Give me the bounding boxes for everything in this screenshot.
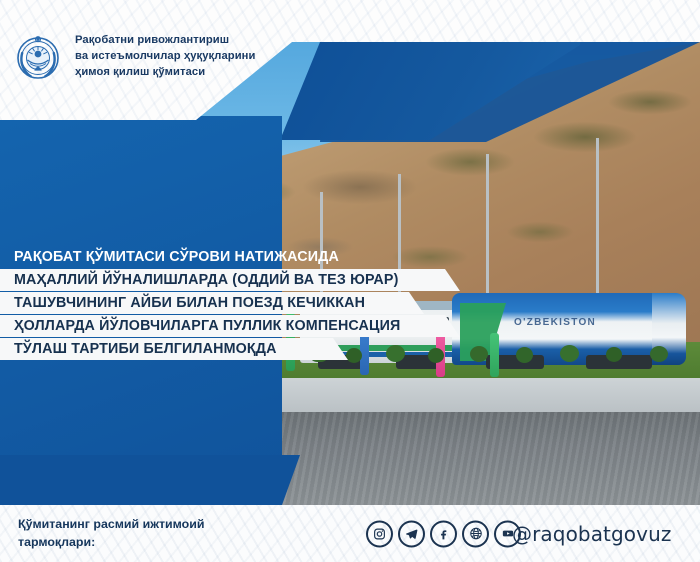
headline-line-1: РАҚОБАТ ҚЎМИТАСИ СЎРОВИ НАТИЖАСИДА [0,246,700,268]
social-media-poster: O'ZBEKISTON [0,0,700,562]
website-globe-icon[interactable] [462,520,489,547]
headline-line-3: ТАШУВЧИНИНГ АЙБИ БИЛАН ПОЕЗД КЕЧИККАН [0,292,700,314]
facebook-icon[interactable] [430,520,457,547]
headline-line-5: ТЎЛАШ ТАРТИБИ БЕЛГИЛАНМОҚДА [0,338,700,360]
headline-line-2: МАҲАЛЛИЙ ЙЎНАЛИШЛАРДА (ОДДИЙ ВА ТЕЗ ЮРАР… [0,269,700,291]
social-networks-label: Қўмитанинг расмий ижтимоий тармоқлари: [18,516,204,552]
social-handle[interactable]: @raqobatgovuz [512,522,671,546]
headline-block: РАҚОБАТ ҚЎМИТАСИ СЎРОВИ НАТИЖАСИДА МАҲАЛ… [0,246,700,361]
organization-title: Рақобатни ривожлантириш ва истеъмолчилар… [75,33,256,81]
left-blue-panel-foot [0,455,310,505]
instagram-icon[interactable] [366,520,393,547]
footer-bar: Қўмитанинг расмий ижтимоий тармоқлари: [0,505,700,562]
headline-line-4: ҲОЛЛАРДА ЙЎЛОВЧИЛАРГА ПУЛЛИК КОМПЕНСАЦИЯ [0,315,700,337]
uzbekistan-state-emblem-icon [14,33,62,81]
telegram-icon[interactable] [398,520,425,547]
social-icon-row [366,520,521,547]
